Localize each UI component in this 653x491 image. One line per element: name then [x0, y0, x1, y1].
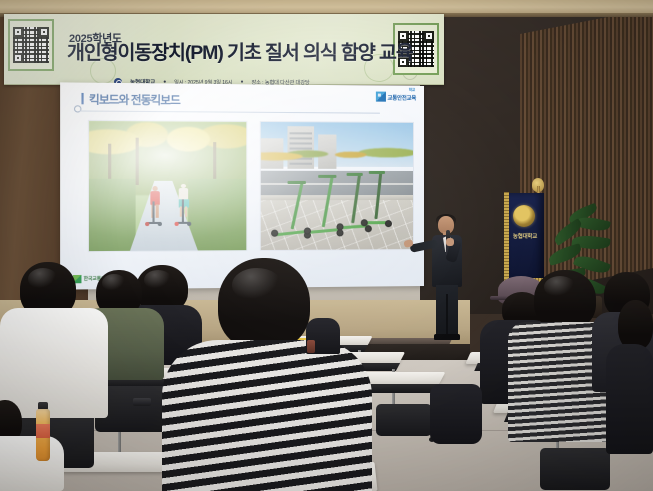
grass-left: [89, 179, 136, 252]
bottle-label: [36, 424, 50, 438]
kickboard-stem: [152, 201, 154, 224]
traffic-safety-logo-icon: [376, 92, 386, 102]
qr-code-left[interactable]: [8, 19, 54, 71]
person-torso: [0, 308, 108, 418]
projection-screen: 킥보드와 전동킥보드 교통안전교육 학교: [60, 82, 424, 289]
smartphone-on-desk[interactable]: [133, 398, 151, 406]
presenter-leg-gap: [446, 294, 448, 334]
scooter-wheel: [385, 220, 392, 227]
kickboard-wheel: [158, 222, 162, 226]
person-torso: [430, 384, 482, 444]
road-marking: [261, 183, 414, 185]
slide-logo: 교통안전교육: [376, 92, 416, 102]
flag-fringe: [504, 192, 509, 282]
slide-bullet-icon: [81, 93, 83, 104]
slide-divider: [79, 110, 380, 113]
presenter-shoes: [434, 334, 460, 340]
lecture-hall-photo: 2025학년도 개인형이동장치(PM) 기초 질서 의식 함양 교육 농협대학교…: [0, 0, 653, 491]
person-torso: [0, 436, 64, 491]
smartphone-held[interactable]: [307, 340, 315, 353]
lecture-chair: [376, 404, 432, 436]
child-leg: [184, 206, 187, 216]
grass-right: [188, 179, 246, 252]
street-trees: [261, 136, 414, 173]
qr-eye-icon: [13, 53, 23, 63]
hair-highlight: [28, 268, 58, 290]
scooter-wheel: [361, 219, 368, 226]
slide-logo-subtext: 학교: [409, 88, 415, 93]
kickboard-wheel: [175, 222, 179, 226]
person-striped-shirt: [162, 340, 372, 491]
person-head: [618, 300, 653, 350]
scooter-handlebar: [347, 173, 363, 176]
kickboard-wheel: [187, 222, 191, 226]
slide-photo-escooter: [260, 121, 414, 251]
scooter-handlebar: [318, 175, 336, 178]
scooter-handlebar: [369, 171, 385, 174]
tree-trunk: [136, 138, 139, 185]
scooter-wheel: [304, 227, 311, 234]
presenter-hand-right: [446, 238, 454, 246]
person-torso: [606, 344, 653, 454]
qr-eye-icon: [398, 31, 408, 41]
slide-logo-text: 교통안전교육: [387, 94, 416, 102]
event-banner: 2025학년도 개인형이동장치(PM) 기초 질서 의식 함양 교육 농협대학교…: [4, 14, 444, 85]
hair-highlight: [102, 274, 126, 292]
banner-title: 개인형이동장치(PM) 기초 질서 의식 함양 교육: [67, 43, 439, 64]
scooter-wheel: [271, 230, 278, 237]
scooter-wheel: [336, 223, 343, 230]
flag-emblem-icon: [513, 205, 535, 227]
child-on-kickboard-red: [149, 186, 161, 221]
hair-highlight: [232, 268, 282, 302]
child-leg: [156, 204, 159, 217]
hair-highlight: [144, 270, 172, 290]
scooter-handlebar: [287, 181, 305, 184]
flag-text: 농협대학교: [510, 232, 540, 240]
slide-title: 킥보드와 전동킥보드: [89, 91, 180, 108]
kickboard-wheel: [145, 222, 149, 226]
kickboard-stem: [182, 199, 184, 224]
qr-eye-icon: [13, 27, 23, 37]
presenter-speaker: [424, 216, 470, 342]
qr-eye-icon: [39, 27, 49, 37]
hair-highlight: [544, 276, 576, 298]
scooter-wheel: [365, 225, 372, 232]
qr-eye-icon: [424, 31, 434, 41]
lecture-chair: [540, 448, 610, 490]
slide-title-bar: 킥보드와 전동킥보드: [81, 91, 331, 109]
slide-photo-kickboard: [88, 120, 247, 252]
scooter-wheel: [336, 229, 343, 236]
